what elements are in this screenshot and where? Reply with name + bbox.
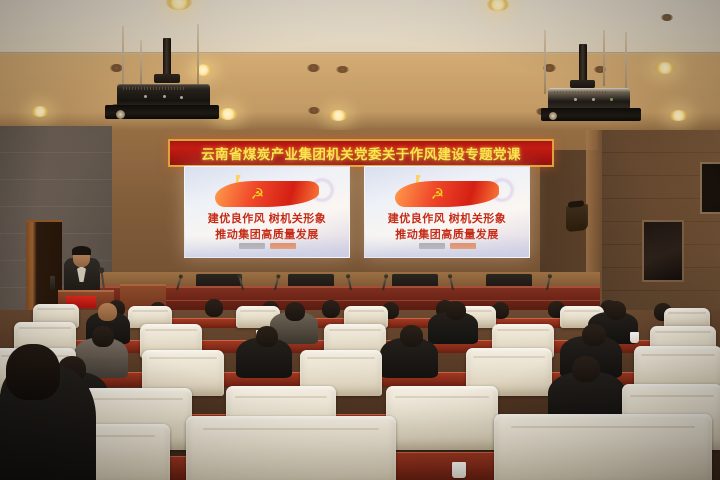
right-wall-frame [700, 162, 720, 214]
projector-lens [116, 110, 125, 119]
water-bottle [50, 276, 55, 290]
audience-head [98, 303, 117, 321]
projector-indicator-led [144, 95, 147, 98]
projector-body [548, 88, 630, 110]
audience-head [92, 326, 114, 347]
slide-flag-graphic: ☭ [395, 175, 499, 209]
audience-desk [396, 452, 506, 480]
slide-bottom-mist [185, 235, 349, 257]
audience-head [285, 302, 305, 321]
projector-vent [123, 87, 186, 90]
cpc-hammer-sickle-emblem: ☭ [249, 187, 266, 202]
ceiling-upper-panel [0, 0, 720, 56]
slide-line-1: 建优良作风 树机关形象 [185, 211, 349, 227]
projector-mount-pole [579, 44, 587, 82]
event-banner: 云南省煤炭产业集团机关党委关于作风建设专题党课 [168, 139, 554, 167]
slide-line-1: 建优良作风 树机关形象 [365, 211, 529, 227]
audience-head [205, 299, 223, 317]
wall-mounted-speaker [566, 204, 588, 232]
audience-chair [494, 414, 712, 480]
projector-support-rod [544, 30, 546, 94]
projector-indicator-led [592, 98, 595, 101]
ceiling-light-on [655, 62, 675, 74]
audience-head [606, 301, 626, 320]
audience-head [256, 326, 278, 347]
audience-chair [386, 386, 498, 450]
foreground-person-head [6, 344, 60, 400]
audience-head [572, 356, 600, 382]
flag-cloth [395, 181, 499, 207]
projector-indicator-led [574, 98, 577, 101]
ceiling-light-on [31, 106, 49, 117]
paper-cup [630, 332, 639, 343]
audience-head [446, 301, 466, 320]
ceiling-light-on [669, 110, 688, 121]
audience-chair [186, 416, 396, 480]
ceiling-light-off [336, 66, 349, 73]
audience-head [582, 324, 606, 346]
ceiling-light-off [661, 14, 673, 21]
projector-vent [554, 91, 606, 94]
event-banner-text: 云南省煤炭产业集团机关党委关于作风建设专题党课 [201, 143, 521, 163]
projection-screen-left: ☭ 建优良作风 树机关形象 推动集团高质量发展 [184, 166, 350, 258]
paper-cup [452, 462, 466, 478]
right-wall-window [642, 220, 684, 282]
projector-indicator-led [610, 98, 613, 101]
projector-support-rod [140, 40, 142, 88]
ceiling-light-on [329, 110, 348, 121]
flag-cloth [215, 181, 319, 207]
projector-support-rod [197, 24, 199, 86]
ceiling-light-off [307, 64, 320, 72]
projector-indicator-led [163, 95, 166, 98]
ceiling-light-off [308, 107, 320, 114]
slide-bottom-mist [365, 235, 529, 257]
audience-head [322, 300, 340, 318]
audience-head [400, 325, 423, 347]
projector-mount-pole [163, 38, 171, 76]
conference-hall-photo: 云南省煤炭产业集团机关党委关于作风建设专题党课 ☭ 建优良作风 树机关形象 推动… [0, 0, 720, 480]
projector-lens [549, 112, 557, 120]
projector-indicator-led [180, 96, 183, 99]
projector-mount-bracket [570, 80, 595, 88]
slide-flag-graphic: ☭ [215, 175, 319, 209]
projector-mount-bracket [154, 74, 180, 83]
speaker-hair [72, 246, 91, 255]
projection-screen-right: ☭ 建优良作风 树机关形象 推动集团高质量发展 [364, 166, 530, 258]
ceiling-light-on [218, 108, 238, 120]
cpc-hammer-sickle-emblem: ☭ [429, 187, 446, 202]
projector-support-rod [603, 30, 605, 86]
